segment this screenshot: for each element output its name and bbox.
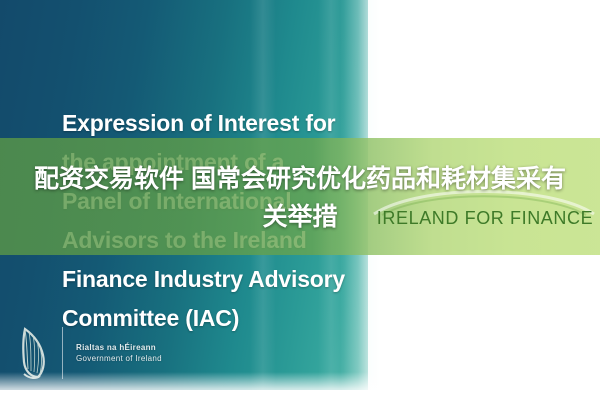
logo-irish-name: Rialtas na hÉireann (76, 342, 162, 353)
panel-bottom-fade (0, 372, 380, 400)
overlay-headline-line-2: 关举措 (8, 198, 592, 236)
overlay-headline: 配资交易软件 国常会研究优化药品和耗材集采有 关举措 (0, 160, 600, 236)
government-logo-text: Rialtas na hÉireann Government of Irelan… (76, 342, 162, 364)
screenshot-canvas: Expression of Interest for the appointme… (0, 0, 600, 400)
overlay-headline-line-1: 配资交易软件 国常会研究优化药品和耗材集采有 (8, 160, 592, 198)
poster-headline-line-5: Finance Industry Advisory (62, 260, 362, 299)
logo-english-name: Government of Ireland (76, 353, 162, 364)
